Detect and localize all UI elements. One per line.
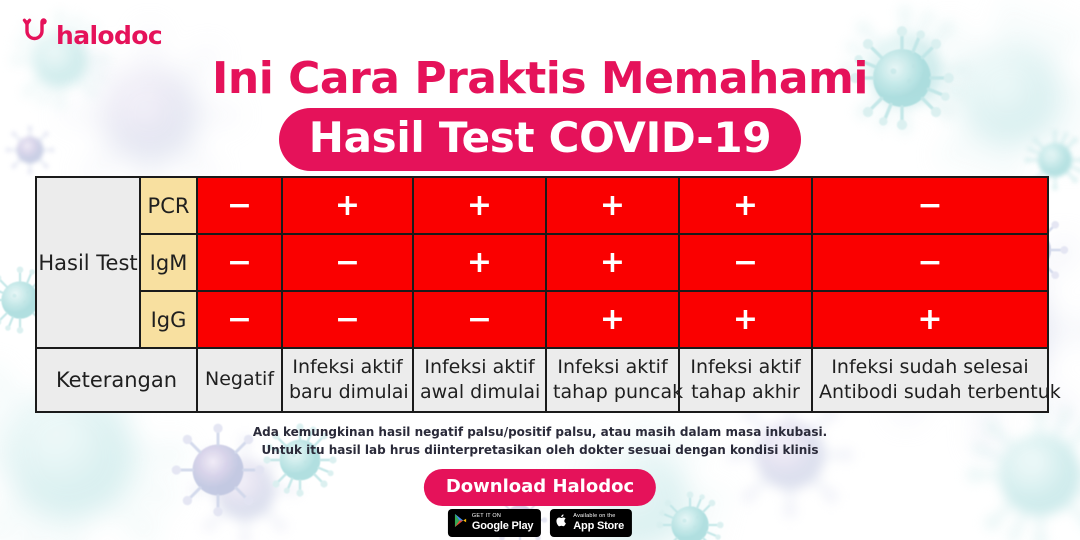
keterangan-cell-4: Infeksi aktif tahap puncak <box>546 348 679 412</box>
page-title: Ini Cara Praktis Memahami Hasil Test COV… <box>0 56 1080 171</box>
row-label-igg: IgG <box>140 291 197 348</box>
table-row: IgM − − + + − − <box>36 234 1048 291</box>
table-row: IgG − − − + + + <box>36 291 1048 348</box>
app-store-badge[interactable]: Available on the App Store <box>550 509 632 537</box>
cell-igm-5: − <box>679 234 812 291</box>
keterangan-line-1: Infeksi aktif <box>553 355 672 380</box>
cell-igm-4: + <box>546 234 679 291</box>
keterangan-label: Keterangan <box>36 348 197 412</box>
cell-igm-2: − <box>282 234 413 291</box>
disclaimer-line-2: Untuk itu hasil lab hrus diinterpretasik… <box>0 442 1080 460</box>
group-label-hasil-test: Hasil Test <box>36 177 140 348</box>
infographic-canvas: halodoc Ini Cara Praktis Memahami Hasil … <box>0 0 1080 540</box>
disclaimer-line-1: Ada kemungkinan hasil negatif palsu/posi… <box>0 424 1080 442</box>
cell-pcr-4: + <box>546 177 679 234</box>
cell-pcr-2: + <box>282 177 413 234</box>
keterangan-line-1: Negatif <box>204 367 275 392</box>
cell-igg-5: + <box>679 291 812 348</box>
keterangan-cell-3: Infeksi aktif awal dimulai <box>413 348 546 412</box>
headline-banner-wrap: Hasil Test COVID-19 <box>0 108 1080 171</box>
cell-pcr-5: + <box>679 177 812 234</box>
keterangan-line-2: tahap puncak <box>553 380 672 405</box>
badge-bottom-line: Google Play <box>472 521 533 532</box>
keterangan-line-2: baru dimulai <box>289 380 406 405</box>
google-play-badge[interactable]: GET IT ON Google Play <box>448 509 541 537</box>
stethoscope-icon <box>22 18 49 53</box>
keterangan-cell-5: Infeksi aktif tahap akhir <box>679 348 812 412</box>
table-row-keterangan: Keterangan Negatif Infeksi aktif baru di… <box>36 348 1048 412</box>
keterangan-cell-1: Negatif <box>197 348 282 412</box>
cell-pcr-3: + <box>413 177 546 234</box>
badge-bottom-line: App Store <box>573 521 624 532</box>
keterangan-line-1: Infeksi aktif <box>289 355 406 380</box>
halodoc-logo[interactable]: halodoc <box>22 18 162 53</box>
google-play-badge-text: GET IT ON Google Play <box>472 514 533 532</box>
row-label-igm: IgM <box>140 234 197 291</box>
cell-igg-4: + <box>546 291 679 348</box>
cell-igg-2: − <box>282 291 413 348</box>
badge-top-line: Available on the <box>573 514 624 520</box>
cell-igg-6: + <box>812 291 1048 348</box>
covid-test-result-table: Hasil Test PCR − + + + + − IgM − − + + −… <box>35 176 1047 413</box>
cell-igm-1: − <box>197 234 282 291</box>
cell-pcr-6: − <box>812 177 1048 234</box>
keterangan-cell-2: Infeksi aktif baru dimulai <box>282 348 413 412</box>
cell-pcr-1: − <box>197 177 282 234</box>
google-play-icon <box>454 513 467 533</box>
keterangan-line-2: tahap akhir <box>686 380 805 405</box>
cell-igm-6: − <box>812 234 1048 291</box>
headline-line-1: Ini Cara Praktis Memahami <box>0 56 1080 102</box>
keterangan-line-1: Infeksi aktif <box>686 355 805 380</box>
cell-igg-3: − <box>413 291 546 348</box>
keterangan-line-2: awal dimulai <box>420 380 539 405</box>
table-row: Hasil Test PCR − + + + + − <box>36 177 1048 234</box>
keterangan-line-1: Infeksi aktif <box>420 355 539 380</box>
row-label-pcr: PCR <box>140 177 197 234</box>
download-halodoc-button[interactable]: Download Halodoc <box>424 469 656 506</box>
apple-icon <box>556 513 568 533</box>
badge-top-line: GET IT ON <box>472 514 533 520</box>
cell-igm-3: + <box>413 234 546 291</box>
app-store-badge-text: Available on the App Store <box>573 514 624 532</box>
keterangan-line-1: Infeksi sudah selesai <box>819 355 1041 380</box>
brand-name: halodoc <box>56 21 162 50</box>
disclaimer-text: Ada kemungkinan hasil negatif palsu/posi… <box>0 424 1080 460</box>
keterangan-line-2: Antibodi sudah terbentuk <box>819 380 1041 405</box>
headline-banner: Hasil Test COVID-19 <box>279 108 802 171</box>
cell-igg-1: − <box>197 291 282 348</box>
keterangan-cell-6: Infeksi sudah selesai Antibodi sudah ter… <box>812 348 1048 412</box>
app-store-badges: GET IT ON Google Play Available on the A… <box>448 509 632 537</box>
